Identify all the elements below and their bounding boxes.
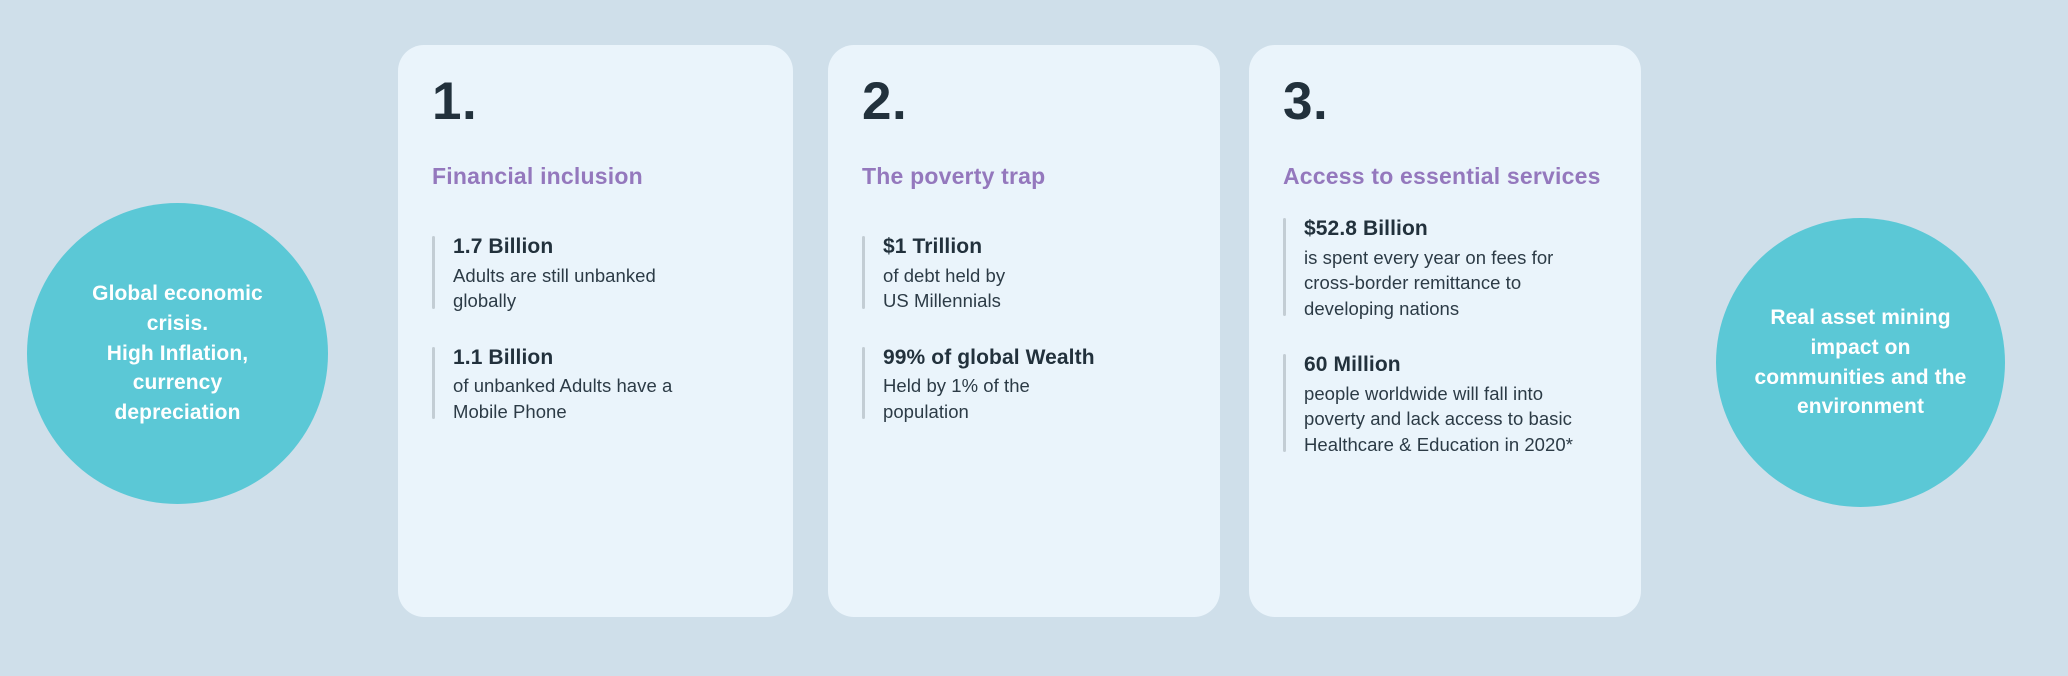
- card-3-number: 3.: [1283, 75, 1607, 128]
- stat-description: Held by 1% of the population: [883, 373, 1186, 424]
- left-context-circle: Global economic crisis. High Inflation, …: [27, 203, 328, 504]
- stat-description: people worldwide will fall into poverty …: [1304, 381, 1607, 458]
- left-circle-text: Global economic crisis. High Inflation, …: [58, 279, 297, 428]
- stat-description: is spent every year on fees for cross-bo…: [1304, 245, 1607, 322]
- stat-value: $1 Trillion: [883, 233, 1186, 260]
- stat-description: of debt held by US Millennials: [883, 263, 1186, 314]
- card-1-number: 1.: [432, 75, 759, 128]
- stat-item: $52.8 Billion is spent every year on fee…: [1283, 215, 1607, 321]
- stat-value: 99% of global Wealth: [883, 344, 1186, 371]
- card-poverty-trap: 2. The poverty trap $1 Trillion of debt …: [828, 45, 1220, 617]
- stat-value: 1.7 Billion: [453, 233, 759, 260]
- card-2-number: 2.: [862, 75, 1186, 128]
- card-financial-inclusion: 1. Financial inclusion 1.7 Billion Adult…: [398, 45, 793, 617]
- stat-value: $52.8 Billion: [1304, 215, 1607, 242]
- card-access-essential-services: 3. Access to essential services $52.8 Bi…: [1249, 45, 1641, 617]
- right-circle-text: Real asset mining impact on communities …: [1739, 303, 1983, 422]
- stat-description: Adults are still unbanked globally: [453, 263, 759, 314]
- stat-item: 1.1 Billion of unbanked Adults have a Mo…: [432, 344, 759, 424]
- stat-item: 1.7 Billion Adults are still unbanked gl…: [432, 233, 759, 313]
- card-1-title: Financial inclusion: [432, 162, 759, 191]
- card-2-title: The poverty trap: [862, 162, 1186, 191]
- stat-item: 60 Million people worldwide will fall in…: [1283, 351, 1607, 457]
- right-context-circle: Real asset mining impact on communities …: [1716, 218, 2005, 507]
- stat-description: of unbanked Adults have a Mobile Phone: [453, 373, 759, 424]
- infographic-stage: Global economic crisis. High Inflation, …: [0, 0, 2068, 676]
- stat-value: 1.1 Billion: [453, 344, 759, 371]
- stat-value: 60 Million: [1304, 351, 1607, 378]
- card-3-title: Access to essential services: [1283, 162, 1607, 191]
- stat-item: 99% of global Wealth Held by 1% of the p…: [862, 344, 1186, 424]
- stat-item: $1 Trillion of debt held by US Millennia…: [862, 233, 1186, 313]
